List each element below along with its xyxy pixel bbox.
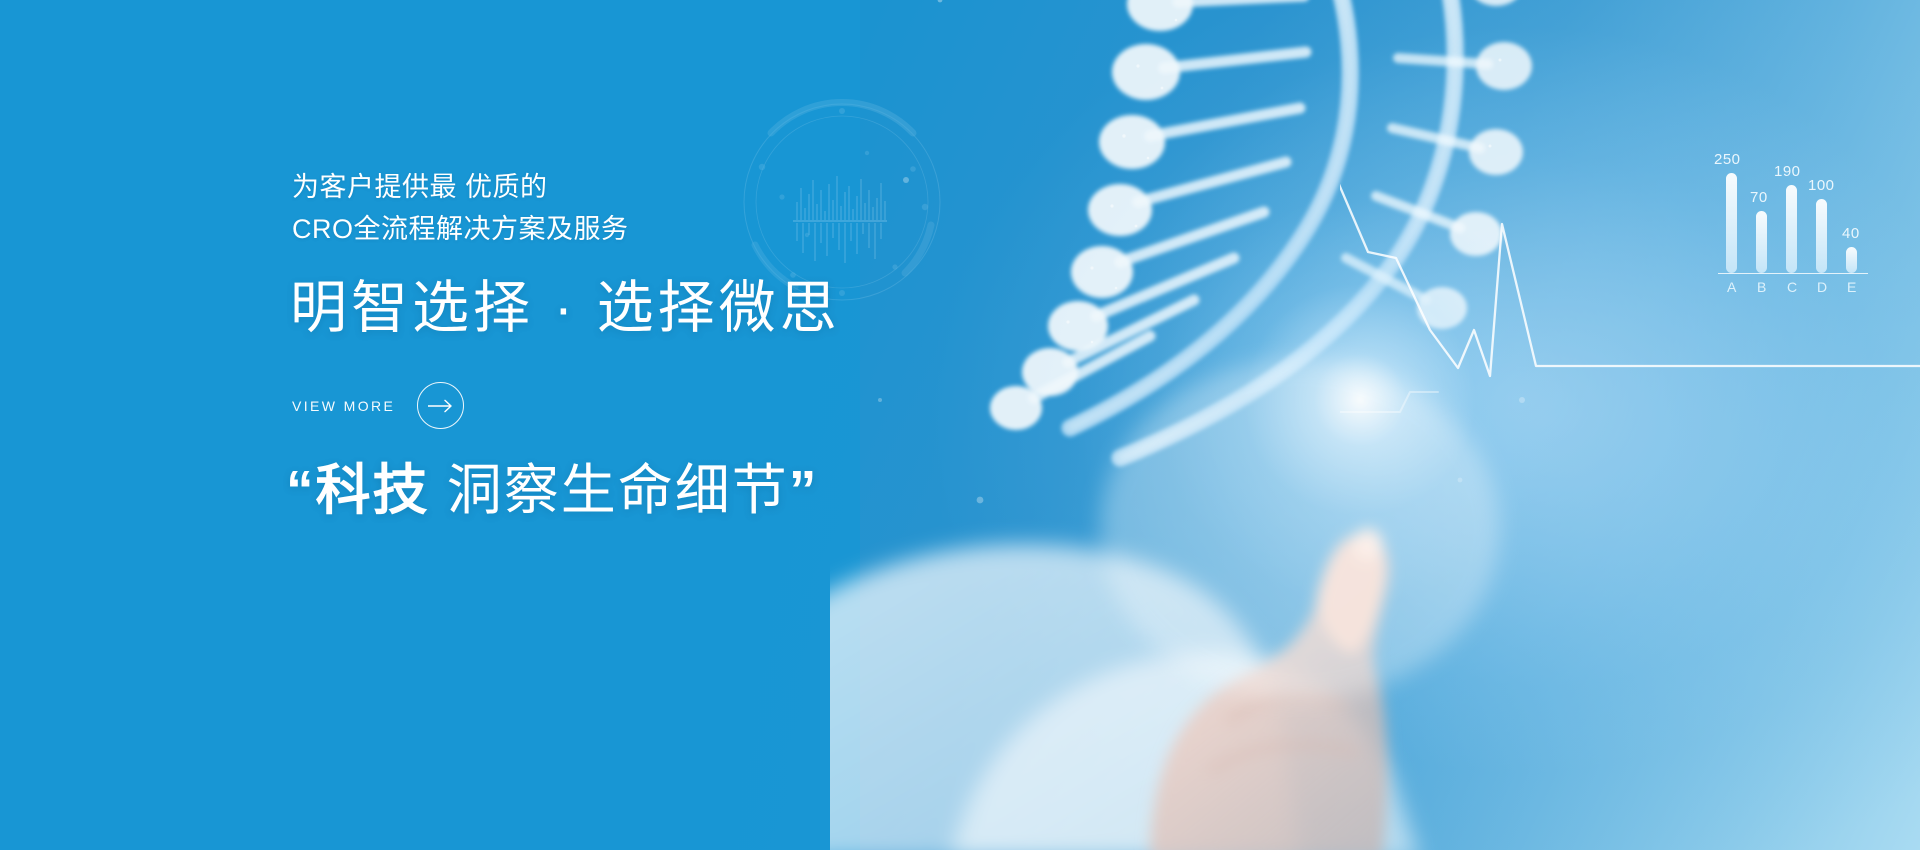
quote-space	[430, 459, 447, 521]
bar-A	[1726, 173, 1737, 273]
bar-value-A: 250	[1714, 151, 1741, 168]
banner-subtitle: 为客户提供最 优质的 CRO全流程解决方案及服务	[292, 166, 629, 250]
view-more-label: VIEW MORE	[292, 398, 395, 414]
banner-headline: 明智选择 · 选择微思	[290, 272, 841, 344]
bar-label-B: B	[1757, 279, 1767, 295]
bar-value-B: 70	[1750, 189, 1768, 206]
bar-C	[1786, 185, 1797, 273]
arrow-right-icon	[417, 382, 464, 429]
bar-E	[1846, 247, 1857, 273]
quote-open-mark: “	[286, 459, 316, 521]
bar-chart: 250 70 190 100 40 A B C D E	[1718, 155, 1878, 320]
bar-value-D: 100	[1808, 177, 1835, 194]
bar-chart-category-labels: A B C D E	[1718, 279, 1868, 299]
hero-banner: 250 70 190 100 40 A B C D E 为客户提供最 优质的 C…	[0, 0, 1920, 850]
bar-label-E: E	[1847, 279, 1857, 295]
bar-label-A: A	[1727, 279, 1737, 295]
quote-light-text: 洞察生命细节	[447, 459, 789, 521]
bar-value-C: 190	[1774, 163, 1801, 180]
quote-strong-text: 科技	[316, 459, 430, 521]
quote-close-mark: ”	[789, 459, 819, 521]
bar-value-E: 40	[1842, 225, 1860, 242]
bar-B	[1756, 211, 1767, 273]
bar-label-C: C	[1787, 279, 1798, 295]
bar-chart-axis	[1718, 273, 1868, 274]
banner-quote: “科技 洞察生命细节”	[286, 452, 818, 528]
bar-D	[1816, 199, 1827, 273]
banner-content: 为客户提供最 优质的 CRO全流程解决方案及服务 明智选择 · 选择微思 VIE…	[292, 0, 1192, 850]
bar-label-D: D	[1817, 279, 1828, 295]
view-more-button[interactable]: VIEW MORE	[292, 382, 464, 429]
bar-chart-plot: 250 70 190 100 40 A B C D E	[1718, 155, 1868, 273]
